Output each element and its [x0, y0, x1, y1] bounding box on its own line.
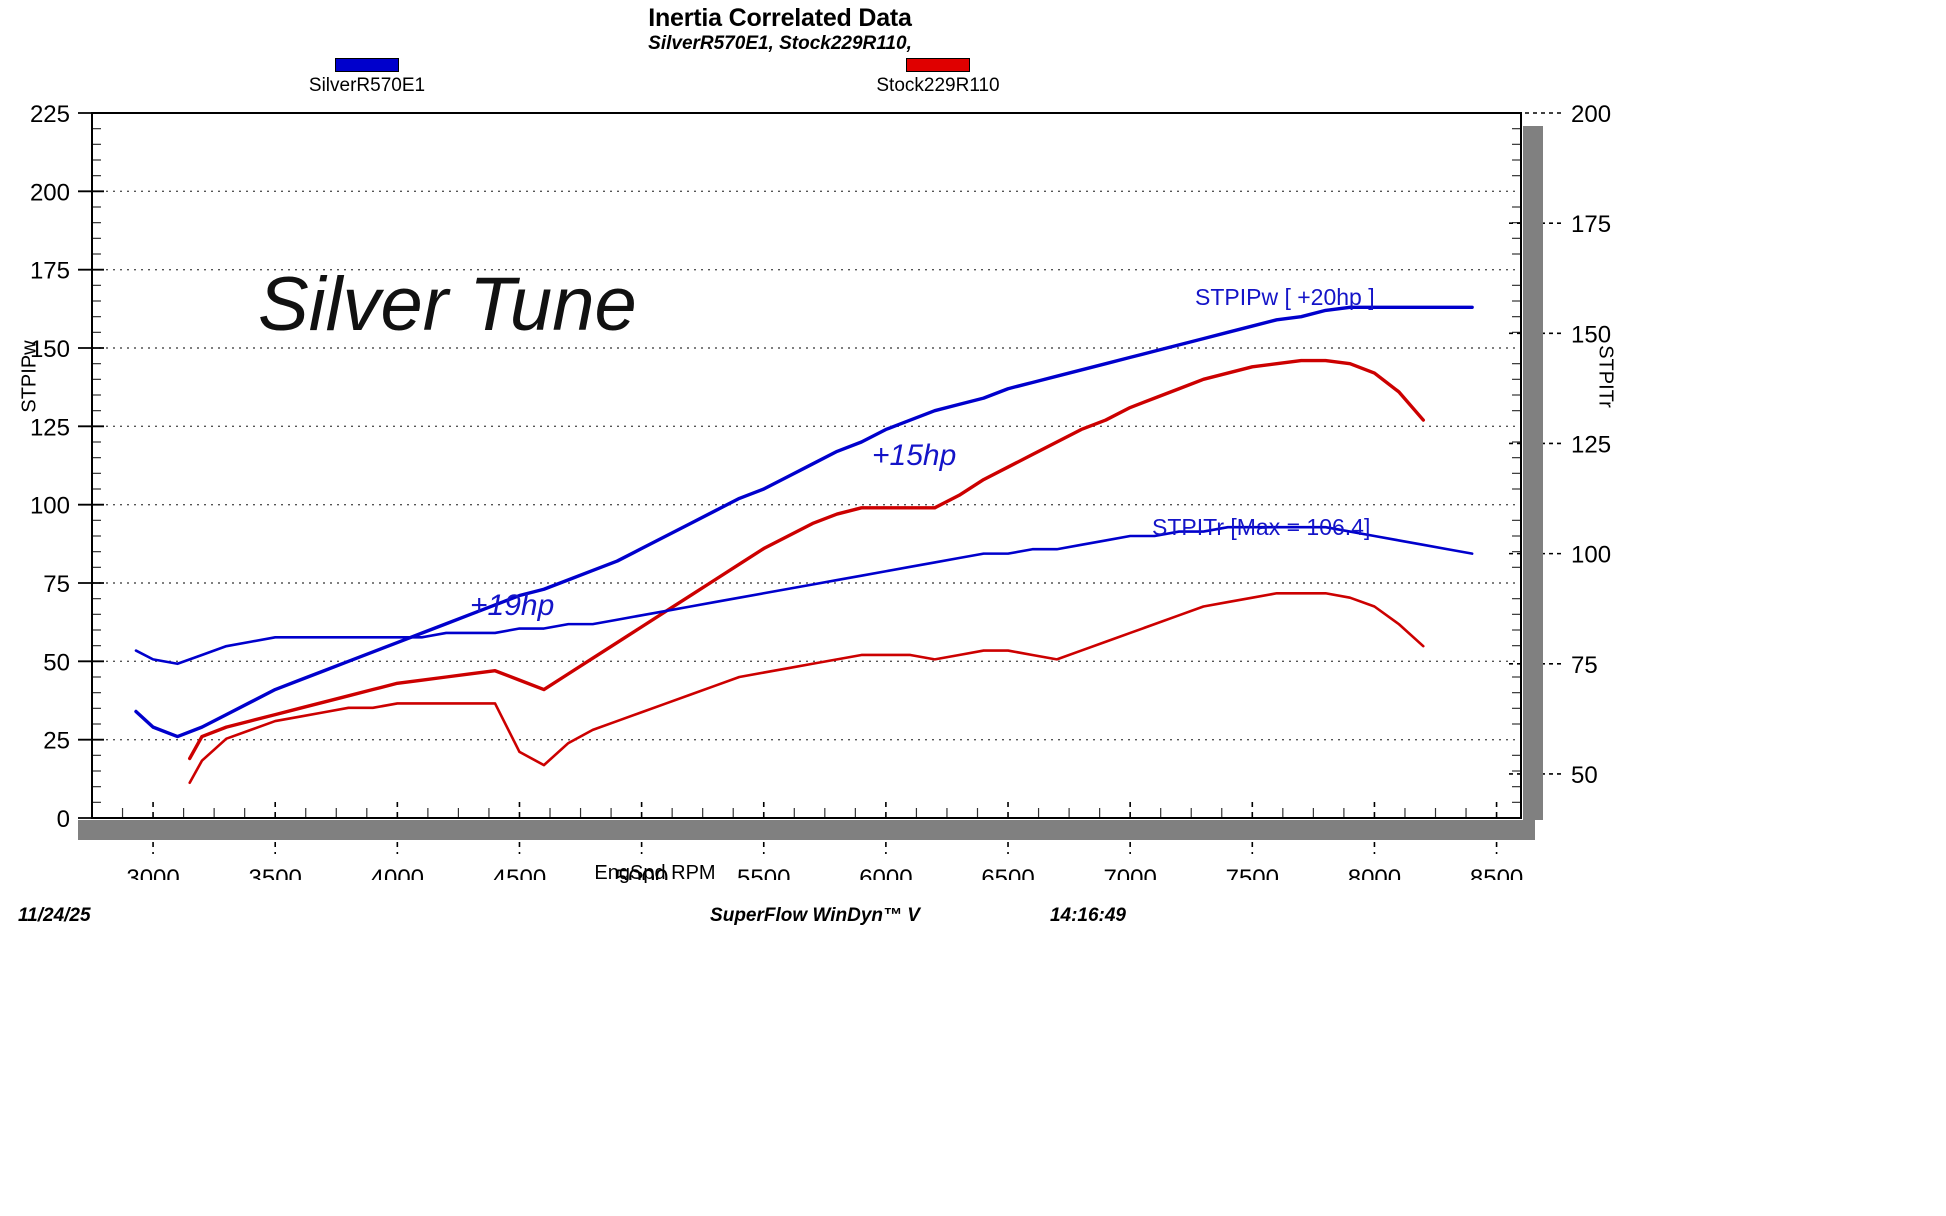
footer-software: SuperFlow WinDyn™ V	[0, 905, 1630, 927]
y-axis-left-tick-label: 50	[43, 649, 70, 676]
y-axis-left-tick-label: 75	[43, 571, 70, 598]
bottom-gray-band	[78, 820, 1535, 840]
plot-area: 0255075100125150175200225507510012515017…	[0, 0, 1946, 880]
right-gray-band	[1523, 126, 1543, 820]
legend-entry-silver[interactable]: SilverR570E1	[247, 58, 487, 97]
y-axis-right-tick-label: 100	[1571, 542, 1611, 569]
y-axis-left-tick-label: 0	[57, 806, 70, 833]
annotation-stpitr-max: STPITr [Max = 106.4]	[1152, 514, 1370, 540]
y-axis-left-tick-label: 225	[30, 101, 70, 128]
annotation-stpipw-gain: STPIPw [ +20hp ]	[1195, 284, 1375, 310]
legend-entry-stock[interactable]: Stock229R110	[818, 58, 1058, 97]
y-axis-left-tick-label: 175	[30, 258, 70, 285]
annotation-mid-gain: +15hp	[872, 439, 956, 472]
x-axis-tick-label: 8500	[1470, 865, 1523, 880]
annotation-low-gain: +19hp	[470, 589, 554, 622]
y-axis-right-tick-label: 175	[1571, 211, 1611, 238]
x-axis-tick-label: 8000	[1348, 865, 1401, 880]
legend-label-silver: SilverR570E1	[247, 75, 487, 97]
legend-swatch-silver	[335, 58, 399, 72]
chart-subtitle: SilverR570E1, Stock229R110,	[0, 33, 1560, 55]
footer-time: 14:16:49	[1050, 905, 1126, 927]
y-axis-left-tick-label: 25	[43, 728, 70, 755]
dyno-chart: Inertia Correlated Data SilverR570E1, St…	[0, 0, 1946, 1216]
x-axis-title: EngSpd RPM	[90, 862, 1220, 885]
y-axis-right-title: STPITr	[1594, 317, 1617, 437]
y-axis-right-tick-label: 200	[1571, 101, 1611, 128]
y-axis-right-tick-label: 75	[1571, 652, 1598, 679]
x-axis-tick-label: 7500	[1226, 865, 1279, 880]
y-axis-left-tick-label: 200	[30, 179, 70, 206]
legend-label-stock: Stock229R110	[818, 75, 1058, 97]
chart-title: Inertia Correlated Data	[0, 4, 1560, 33]
y-axis-left-tick-label: 100	[30, 493, 70, 520]
y-axis-right-tick-label: 50	[1571, 762, 1598, 789]
watermark-text: Silver Tune	[258, 262, 637, 347]
y-axis-left-title: STPIPw	[19, 317, 42, 437]
legend-swatch-stock	[906, 58, 970, 72]
